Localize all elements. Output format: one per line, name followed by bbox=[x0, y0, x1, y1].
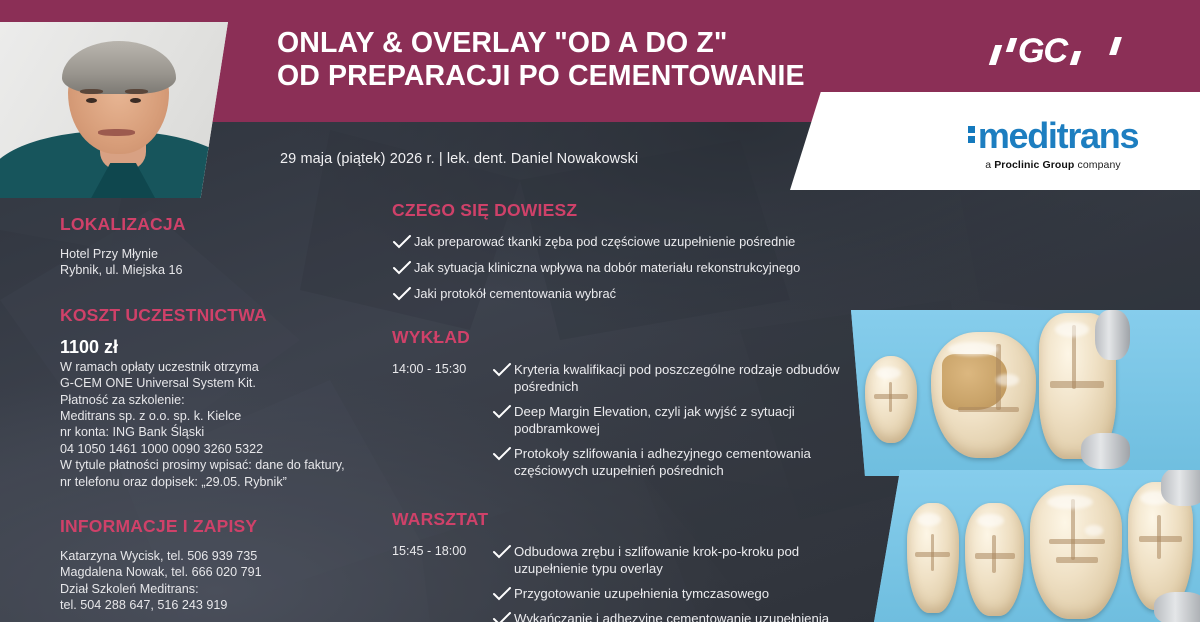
check-icon bbox=[492, 446, 514, 462]
gc-logo: GC bbox=[988, 32, 1138, 74]
cost-line: W tytule płatności prosimy wpisać: dane … bbox=[60, 457, 370, 473]
cost-line: W ramach opłaty uczestnik otrzyma bbox=[60, 359, 370, 375]
meditrans-logo: meditrans a Proclinic Group company bbox=[938, 118, 1168, 171]
list-item: Kryteria kwalifikacji pod poszczególne r… bbox=[492, 361, 862, 395]
contact-line: Magdalena Nowak, tel. 666 020 791 bbox=[60, 564, 370, 580]
contact-line: tel. 504 288 647, 516 243 919 bbox=[60, 597, 370, 613]
gc-logo-tick-4 bbox=[1109, 37, 1122, 55]
learn-block: CZEGO SIĘ DOWIESZ Jak preparować tkanki … bbox=[392, 200, 862, 303]
list-item: Deep Margin Elevation, czyli jak wyjść z… bbox=[492, 403, 862, 437]
lecture-list: Kryteria kwalifikacji pod poszczególne r… bbox=[492, 361, 862, 487]
workshop-block: WARSZTAT 15:45 - 18:00 Odbudowa zrębu i … bbox=[392, 509, 862, 622]
cost-line: nr telefonu oraz dopisek: „29.05. Rybnik… bbox=[60, 474, 370, 490]
learn-list: Jak preparować tkanki zęba pod częściowe… bbox=[392, 234, 862, 303]
cost-line: 04 1050 1461 1000 0090 3260 5322 bbox=[60, 441, 370, 457]
check-icon bbox=[492, 611, 514, 622]
cost-block: KOSZT UCZESTNICTWA 1100 zł W ramach opła… bbox=[60, 305, 370, 490]
meditrans-logo-colon-icon bbox=[968, 126, 975, 146]
location-body: Hotel Przy Młynie Rybnik, ul. Miejska 16 bbox=[60, 246, 370, 279]
lecture-session: 14:00 - 15:30 Kryteria kwalifikacji pod … bbox=[392, 361, 862, 487]
gc-logo-tick-1 bbox=[989, 45, 1002, 65]
workshop-heading: WARSZTAT bbox=[392, 509, 862, 530]
poster-title-line1: ONLAY & OVERLAY "OD A DO Z" bbox=[277, 27, 805, 60]
list-item-label: Protokoły szlifowania i adhezyjnego ceme… bbox=[514, 445, 862, 479]
location-block: LOKALIZACJA Hotel Przy Młynie Rybnik, ul… bbox=[60, 214, 370, 279]
restoration-photo-top bbox=[851, 310, 1200, 476]
restoration-photo-bottom bbox=[874, 470, 1200, 622]
location-line: Rybnik, ul. Miejska 16 bbox=[60, 262, 370, 278]
list-item-label: Jaki protokół cementowania wybrać bbox=[414, 286, 616, 303]
cost-body: W ramach opłaty uczestnik otrzyma G-CEM … bbox=[60, 359, 370, 490]
list-item: Wykańczanie i adhezyjne cementowanie uzu… bbox=[492, 610, 862, 622]
workshop-session: 15:45 - 18:00 Odbudowa zrębu i szlifowan… bbox=[392, 543, 862, 622]
check-icon bbox=[492, 404, 514, 420]
contact-heading: INFORMACJE I ZAPISY bbox=[60, 516, 370, 537]
list-item-label: Kryteria kwalifikacji pod poszczególne r… bbox=[514, 361, 862, 395]
cost-heading: KOSZT UCZESTNICTWA bbox=[60, 305, 370, 326]
list-item-label: Deep Margin Elevation, czyli jak wyjść z… bbox=[514, 403, 862, 437]
list-item-label: Wykańczanie i adhezyjne cementowanie uzu… bbox=[514, 610, 862, 622]
meditrans-tagline: a Proclinic Group company bbox=[938, 159, 1168, 171]
gc-logo-text: GC bbox=[1018, 32, 1067, 71]
lecture-time: 14:00 - 15:30 bbox=[392, 361, 492, 487]
meditrans-tagline-pre: a bbox=[985, 159, 994, 171]
contact-body: Katarzyna Wycisk, tel. 506 939 735 Magda… bbox=[60, 548, 370, 614]
list-item-label: Jak preparować tkanki zęba pod częściowe… bbox=[414, 234, 795, 251]
cost-price: 1100 zł bbox=[60, 337, 370, 358]
cost-line: Płatność za szkolenie: bbox=[60, 392, 370, 408]
check-icon bbox=[492, 362, 514, 378]
location-line: Hotel Przy Młynie bbox=[60, 246, 370, 262]
check-icon bbox=[492, 586, 514, 602]
gc-logo-tick-2 bbox=[1006, 38, 1018, 52]
workshop-list: Odbudowa zrębu i szlifowanie krok-po-kro… bbox=[492, 543, 862, 622]
speaker-photo bbox=[0, 22, 228, 198]
contact-line: Katarzyna Wycisk, tel. 506 939 735 bbox=[60, 548, 370, 564]
list-item: Protokoły szlifowania i adhezyjnego ceme… bbox=[492, 445, 862, 479]
poster-canvas: ONLAY & OVERLAY "OD A DO Z" OD PREPARACJ… bbox=[0, 0, 1200, 622]
contact-block: INFORMACJE I ZAPISY Katarzyna Wycisk, te… bbox=[60, 516, 370, 614]
check-icon bbox=[392, 261, 414, 277]
lecture-heading: WYKŁAD bbox=[392, 327, 862, 348]
contact-line: Dział Szkoleń Meditrans: bbox=[60, 581, 370, 597]
location-heading: LOKALIZACJA bbox=[60, 214, 370, 235]
date-speaker-line: 29 maja (piątek) 2026 r. | lek. dent. Da… bbox=[280, 151, 638, 167]
gc-logo-tick-3 bbox=[1070, 51, 1082, 65]
meditrans-logo-text: meditrans bbox=[978, 118, 1138, 154]
check-icon bbox=[492, 544, 514, 560]
cost-line: nr konta: ING Bank Śląski bbox=[60, 424, 370, 440]
cost-line: Meditrans sp. z o.o. sp. k. Kielce bbox=[60, 408, 370, 424]
list-item: Odbudowa zrębu i szlifowanie krok-po-kro… bbox=[492, 543, 862, 577]
meditrans-tagline-bold: Proclinic Group bbox=[994, 159, 1074, 171]
lecture-block: WYKŁAD 14:00 - 15:30 Kryteria kwalifikac… bbox=[392, 327, 862, 487]
meditrans-tagline-post: company bbox=[1074, 159, 1120, 171]
poster-title: ONLAY & OVERLAY "OD A DO Z" OD PREPARACJ… bbox=[277, 27, 805, 93]
list-item-label: Jak sytuacja kliniczna wpływa na dobór m… bbox=[414, 260, 800, 277]
program-column: CZEGO SIĘ DOWIESZ Jak preparować tkanki … bbox=[392, 200, 862, 622]
list-item: Jaki protokół cementowania wybrać bbox=[392, 286, 862, 303]
poster-title-line2: OD PREPARACJI PO CEMENTOWANIE bbox=[277, 60, 805, 93]
workshop-time: 15:45 - 18:00 bbox=[392, 543, 492, 622]
left-info-column: LOKALIZACJA Hotel Przy Młynie Rybnik, ul… bbox=[60, 214, 370, 622]
list-item-label: Przygotowanie uzupełnienia tymczasowego bbox=[514, 585, 769, 602]
learn-heading: CZEGO SIĘ DOWIESZ bbox=[392, 200, 862, 221]
list-item: Jak sytuacja kliniczna wpływa na dobór m… bbox=[392, 260, 862, 277]
check-icon bbox=[392, 235, 414, 251]
list-item: Przygotowanie uzupełnienia tymczasowego bbox=[492, 585, 862, 602]
check-icon bbox=[392, 287, 414, 303]
list-item-label: Odbudowa zrębu i szlifowanie krok-po-kro… bbox=[514, 543, 862, 577]
cost-line: G-CEM ONE Universal System Kit. bbox=[60, 375, 370, 391]
list-item: Jak preparować tkanki zęba pod częściowe… bbox=[392, 234, 862, 251]
